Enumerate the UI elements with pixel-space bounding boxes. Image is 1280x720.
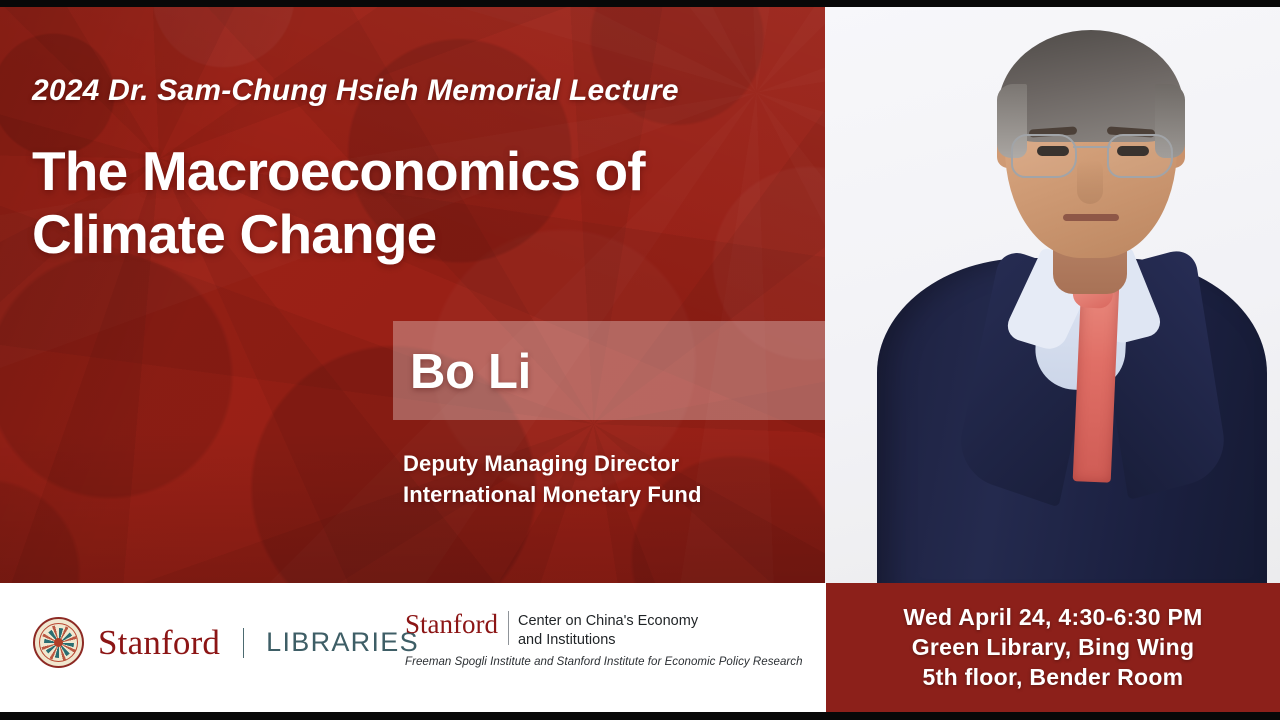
logo-divider-rule bbox=[243, 628, 244, 658]
cceri-affiliation-line: Freeman Spogli Institute and Stanford In… bbox=[405, 656, 803, 668]
stanford-seal-icon bbox=[33, 617, 84, 668]
page-title-line-2: Climate Change bbox=[32, 203, 752, 266]
speaker-organization-line: International Monetary Fund bbox=[403, 479, 702, 510]
event-room: 5th floor, Bender Room bbox=[923, 664, 1184, 691]
stanford-wordmark: Stanford bbox=[98, 625, 220, 660]
speaker-title-line: Deputy Managing Director bbox=[403, 448, 702, 479]
eyeglass-bridge bbox=[1073, 146, 1111, 148]
cceri-stanford-wordmark: Stanford bbox=[405, 610, 498, 638]
cceri-divider-rule bbox=[508, 611, 509, 645]
eyeglass-lens-left bbox=[1011, 134, 1077, 178]
lecture-series-eyebrow: 2024 Dr. Sam-Chung Hsieh Memorial Lectur… bbox=[32, 74, 679, 108]
center-on-chinas-economy-logo[interactable]: Stanford Center on China's Economy and I… bbox=[405, 610, 803, 668]
eyeglass-lens-right bbox=[1107, 134, 1173, 178]
portrait-mouth bbox=[1063, 214, 1119, 221]
portrait-nose bbox=[1077, 160, 1103, 204]
cceri-unit-name: Center on China's Economy and Institutio… bbox=[518, 610, 698, 649]
cceri-unit-line-2: and Institutions bbox=[518, 631, 698, 650]
libraries-unit-name: LIBRARIES bbox=[266, 629, 419, 656]
letterbox-bottom-bar bbox=[0, 712, 1280, 720]
cceri-lockup-row: Stanford Center on China's Economy and I… bbox=[405, 610, 803, 649]
event-poster: 2024 Dr. Sam-Chung Hsieh Memorial Lectur… bbox=[0, 0, 1280, 720]
event-details-box: Wed April 24, 4:30-6:30 PM Green Library… bbox=[826, 583, 1280, 712]
speaker-photo-panel bbox=[825, 0, 1280, 596]
page-title: The Macroeconomics of Climate Change bbox=[32, 140, 752, 265]
seal-center-dot bbox=[54, 638, 63, 647]
page-title-line-1: The Macroeconomics of bbox=[32, 140, 752, 203]
cceri-unit-line-1: Center on China's Economy bbox=[518, 612, 698, 631]
speaker-name: Bo Li bbox=[410, 344, 531, 400]
speaker-portrait-image bbox=[825, 0, 1280, 596]
logo-footer: Stanford LIBRARIES Stanford Center on Ch… bbox=[0, 583, 826, 720]
event-venue: Green Library, Bing Wing bbox=[912, 634, 1195, 661]
speaker-affiliation: Deputy Managing Director International M… bbox=[403, 448, 702, 510]
event-datetime: Wed April 24, 4:30-6:30 PM bbox=[903, 604, 1202, 631]
stanford-libraries-logo[interactable]: Stanford LIBRARIES bbox=[33, 617, 419, 668]
letterbox-top-bar bbox=[0, 0, 1280, 7]
